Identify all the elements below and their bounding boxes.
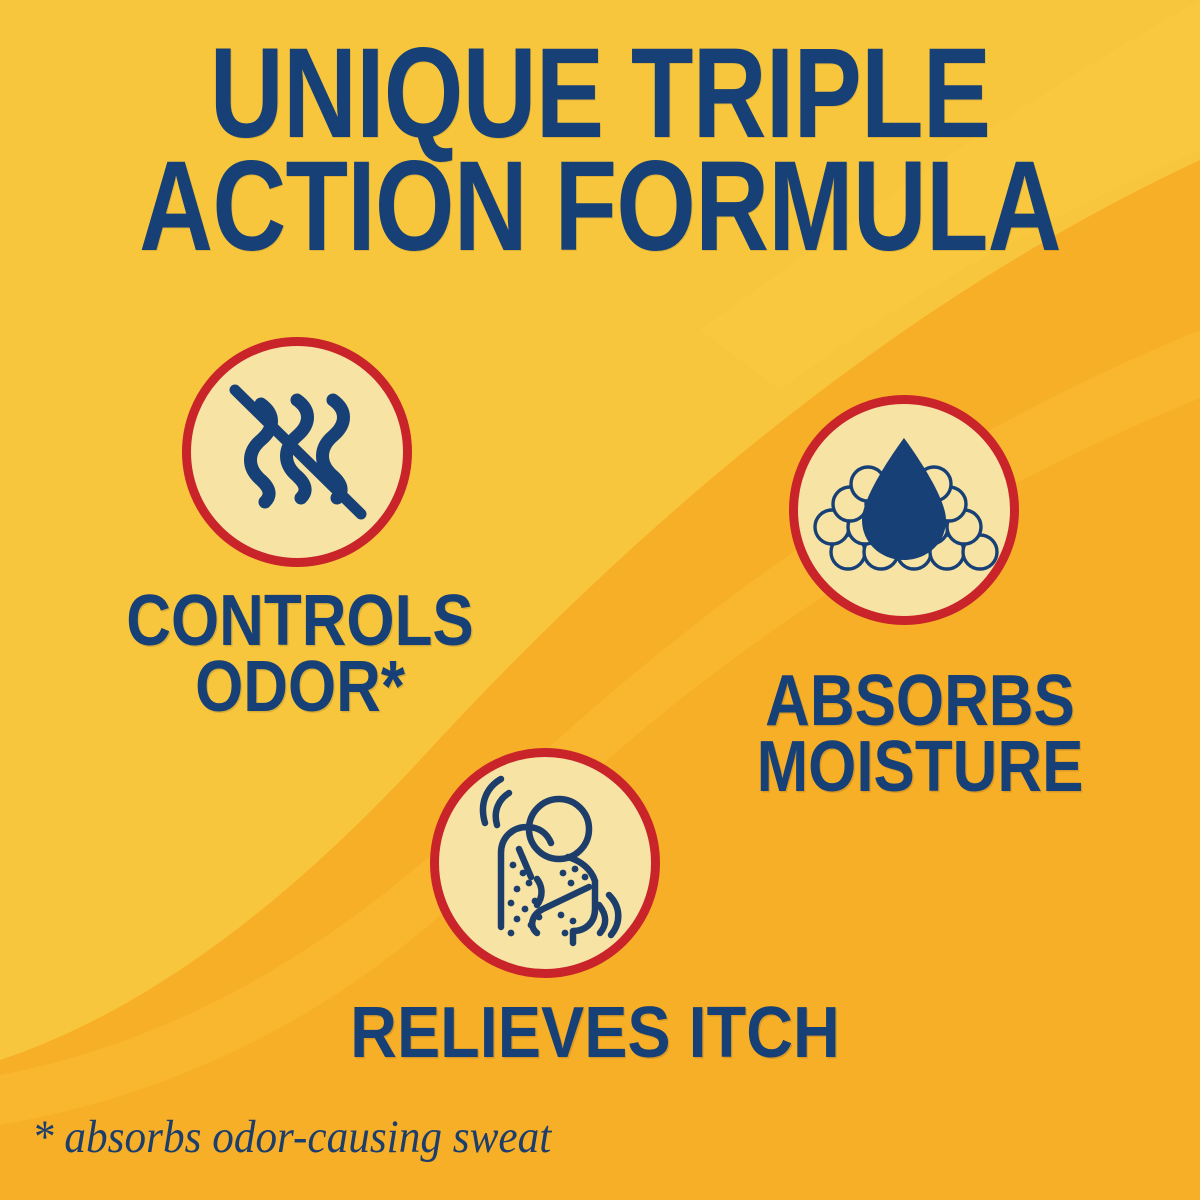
feature-caption-moisture-line-1: ABSORBS (696, 668, 1143, 734)
feature-caption-itch: RELIEVES ITCH (245, 1000, 945, 1066)
feature-badge-itch (430, 748, 660, 978)
itch-dots (508, 862, 589, 937)
feature-caption-moisture-line-2: MOISTURE (696, 734, 1143, 800)
motion-arc-upper-inner (496, 793, 509, 825)
water-droplet-particles-icon (798, 404, 1010, 616)
page-title: UNIQUE TRIPLE ACTION FORMULA (120, 38, 1080, 263)
headline-line-2: ACTION FORMULA (120, 151, 1080, 264)
water-droplet-shape (862, 438, 946, 560)
feature-badge-moisture (789, 395, 1019, 625)
feature-caption-itch-line-1: RELIEVES ITCH (280, 1000, 910, 1066)
motion-arc-lower-inner (599, 905, 605, 933)
feature-caption-odor: CONTROLS ODOR* (40, 588, 560, 720)
feature-caption-odor-line-2: ODOR* (76, 654, 523, 720)
motion-arc-lower-outer (609, 895, 618, 935)
feature-badge-odor (182, 337, 412, 567)
infographic-canvas: UNIQUE TRIPLE ACTION FORMULA CONTROLS OD… (0, 0, 1200, 1200)
person-scratching-icon (439, 757, 651, 969)
headline-line-1: UNIQUE TRIPLE (120, 38, 1080, 151)
feature-caption-odor-line-1: CONTROLS (76, 588, 523, 654)
feature-caption-moisture: ABSORBS MOISTURE (660, 668, 1180, 800)
footnote-disclaimer: * absorbs odor-causing sweat (32, 1110, 551, 1164)
odor-waves-slash-icon (191, 346, 403, 558)
